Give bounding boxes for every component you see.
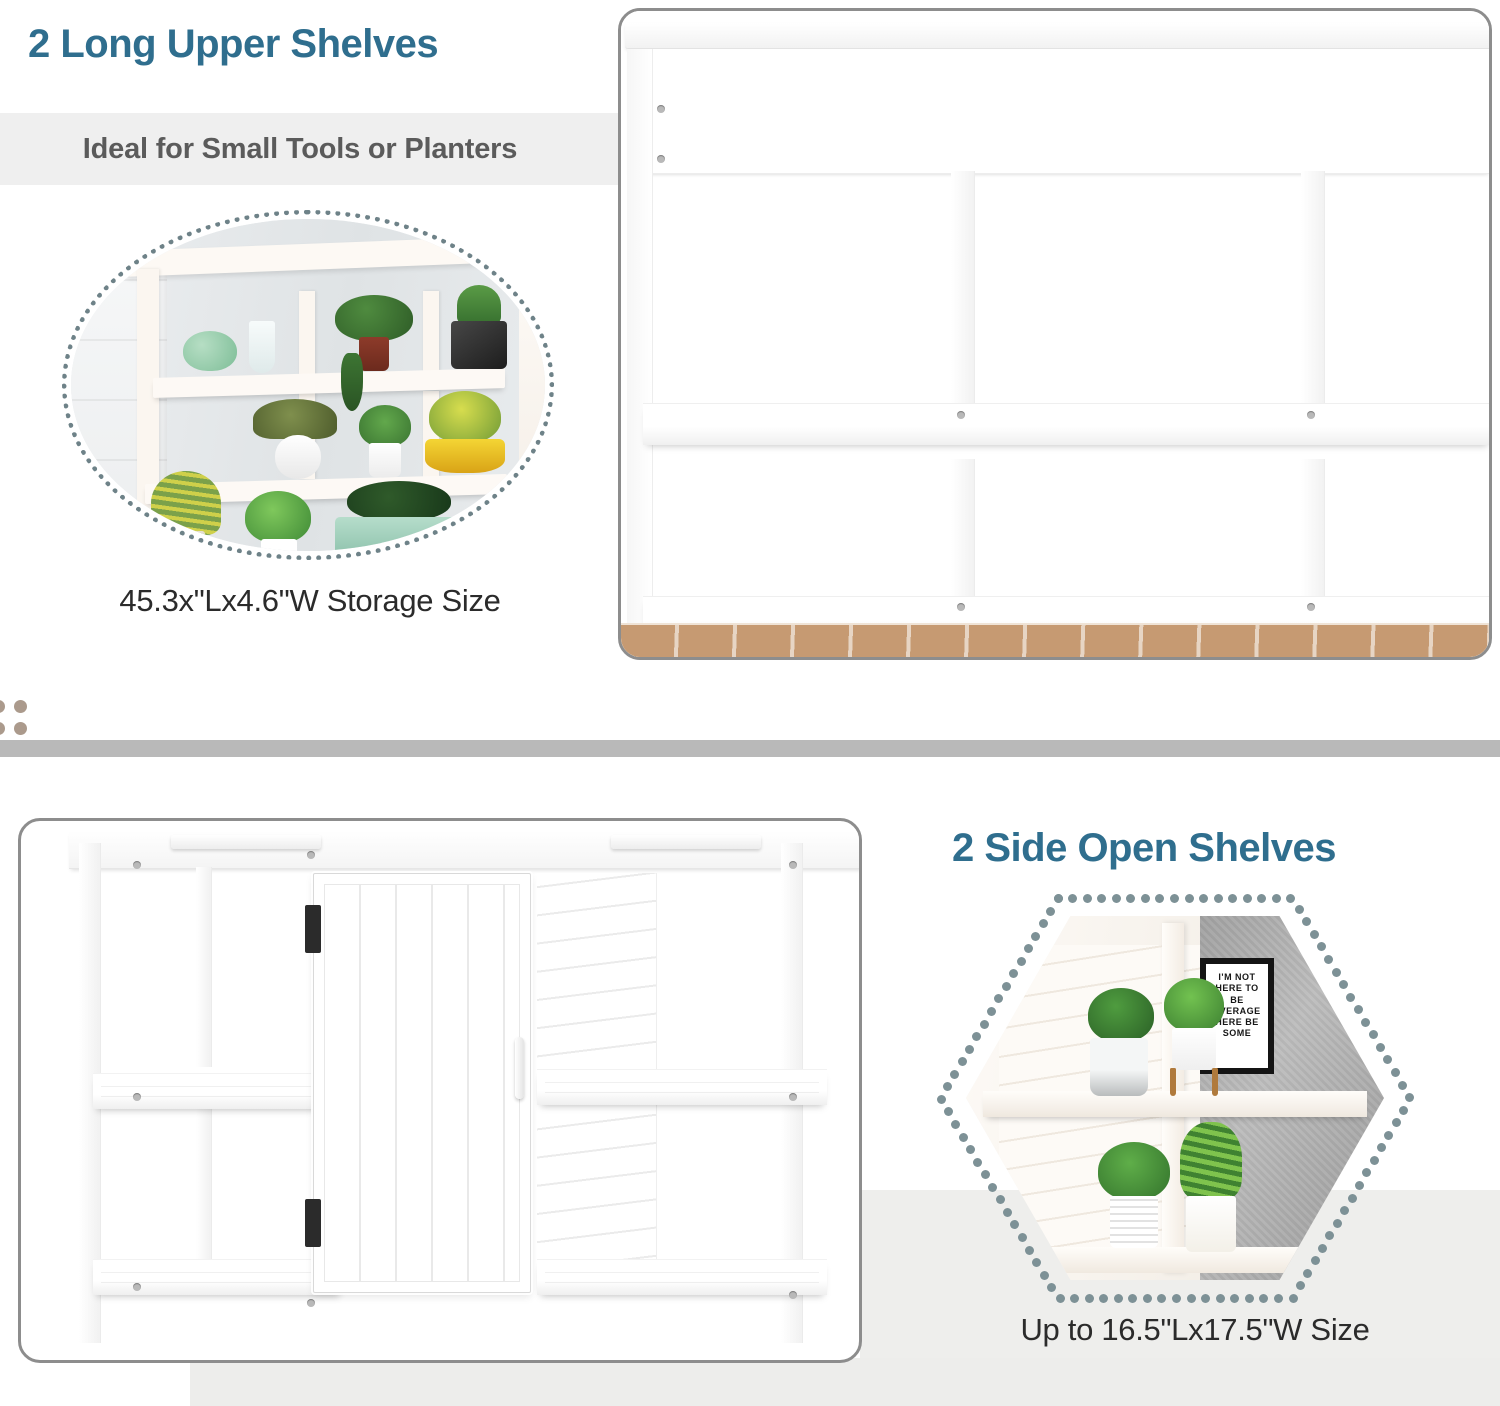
screw-icon xyxy=(657,105,665,113)
cabinet-door[interactable] xyxy=(313,873,531,1293)
screw-icon xyxy=(957,603,965,611)
screw-icon xyxy=(133,1283,141,1291)
divider-post-2 xyxy=(1301,171,1325,421)
cabinet-door-panel xyxy=(324,884,520,1282)
decorative-dot-tail xyxy=(0,700,60,734)
right-shelf-upper xyxy=(537,1069,827,1105)
top-crown-rail xyxy=(625,23,1491,49)
screw-icon xyxy=(789,1291,797,1299)
bottom-heading: 2 Side Open Shelves xyxy=(952,826,1482,871)
upper-shelf-board-1 xyxy=(643,403,1491,445)
cabinet-door-pull[interactable] xyxy=(515,1037,524,1099)
cabinet-hinge-top xyxy=(305,905,321,953)
top-back-panel xyxy=(627,49,1491,174)
bench-inner-post-left xyxy=(196,867,212,1067)
top-subtitle: Ideal for Small Tools or Planters xyxy=(0,113,600,185)
right-shelf-lower xyxy=(537,1259,827,1295)
bottom-hex-inset: I'M NOT HERE TO BE AVERAGE HERE BE SOME xyxy=(940,898,1410,1298)
infographic-page: 2 Long Upper Shelves Ideal for Small Too… xyxy=(0,0,1500,1406)
screw-icon xyxy=(789,861,797,869)
top-heading: 2 Long Upper Shelves xyxy=(28,22,618,67)
screw-icon xyxy=(657,155,665,163)
screw-icon xyxy=(1307,411,1315,419)
bench-handle-right xyxy=(611,835,761,849)
section-divider xyxy=(0,740,1500,757)
top-caption: 45.3x"Lx4.6"W Storage Size xyxy=(30,583,590,619)
screw-icon xyxy=(307,851,315,859)
wood-deck-floor xyxy=(621,623,1489,657)
screw-icon xyxy=(789,1093,797,1101)
right-back-panel-lower xyxy=(537,1083,657,1283)
bottom-caption: Up to 16.5"Lx17.5"W Size xyxy=(930,1312,1460,1348)
top-oval-inset xyxy=(62,210,554,560)
bottom-product-photo xyxy=(18,818,862,1363)
divider-post-1 xyxy=(951,171,975,421)
upper-shelf-unit xyxy=(621,11,1489,657)
screw-icon xyxy=(307,1299,315,1307)
potting-bench xyxy=(21,821,859,1360)
bench-handle-left xyxy=(171,835,321,849)
screw-icon xyxy=(133,861,141,869)
cabinet-hinge-bottom xyxy=(305,1199,321,1247)
left-shelf-lower xyxy=(93,1259,343,1295)
left-shelf-upper xyxy=(93,1073,343,1109)
right-back-panel-upper xyxy=(537,873,657,1069)
top-product-photo xyxy=(618,8,1492,660)
bottom-gray-band xyxy=(190,1358,1500,1406)
screw-icon xyxy=(1307,603,1315,611)
bench-inner-post-left2 xyxy=(196,1083,212,1283)
left-stile xyxy=(627,49,653,637)
screw-icon xyxy=(133,1093,141,1101)
hex-dotted-outline xyxy=(940,898,1410,1298)
screw-icon xyxy=(957,411,965,419)
oval-dotted-outline xyxy=(62,210,554,560)
